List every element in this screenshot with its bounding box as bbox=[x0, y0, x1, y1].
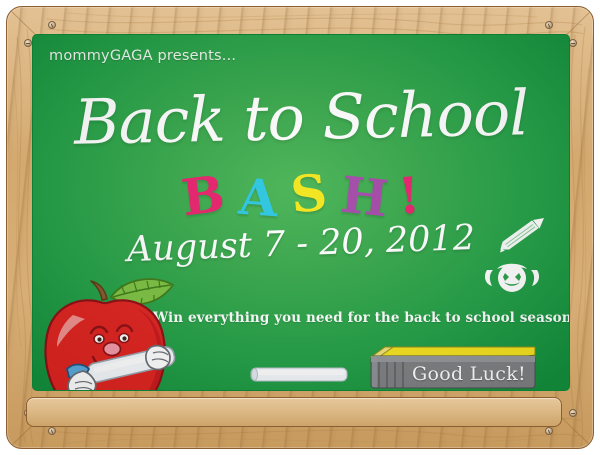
screw bbox=[569, 409, 577, 417]
letter-a: A bbox=[237, 172, 279, 225]
chalkboard: mommyGAGA presents... Back to School BAS… bbox=[32, 34, 570, 391]
brand-line: mommyGAGA presents... bbox=[49, 48, 236, 64]
screw bbox=[48, 427, 56, 435]
letter-exclamation: ! bbox=[396, 170, 421, 221]
screw bbox=[48, 21, 56, 29]
screw bbox=[545, 21, 553, 29]
bash-wordmark: BASH! bbox=[33, 171, 569, 221]
letter-s: S bbox=[289, 168, 329, 221]
good-luck-label: Good Luck! bbox=[405, 365, 533, 384]
chalk-tray bbox=[26, 397, 562, 427]
apple-mascot bbox=[33, 273, 193, 391]
letter-h: H bbox=[339, 170, 391, 225]
tagline: Win everything you need for the back to … bbox=[153, 312, 563, 326]
smiley-face-doodle-icon bbox=[483, 260, 541, 296]
screw bbox=[569, 39, 577, 47]
poster-canvas: mommyGAGA presents... Back to School BAS… bbox=[0, 0, 600, 455]
screw bbox=[24, 39, 32, 47]
letter-b: B bbox=[179, 169, 227, 224]
pencil-doodle-icon bbox=[497, 215, 549, 255]
screw bbox=[545, 427, 553, 435]
headline-back-to-school: Back to School bbox=[32, 81, 569, 154]
chalk-stick bbox=[249, 365, 349, 383]
